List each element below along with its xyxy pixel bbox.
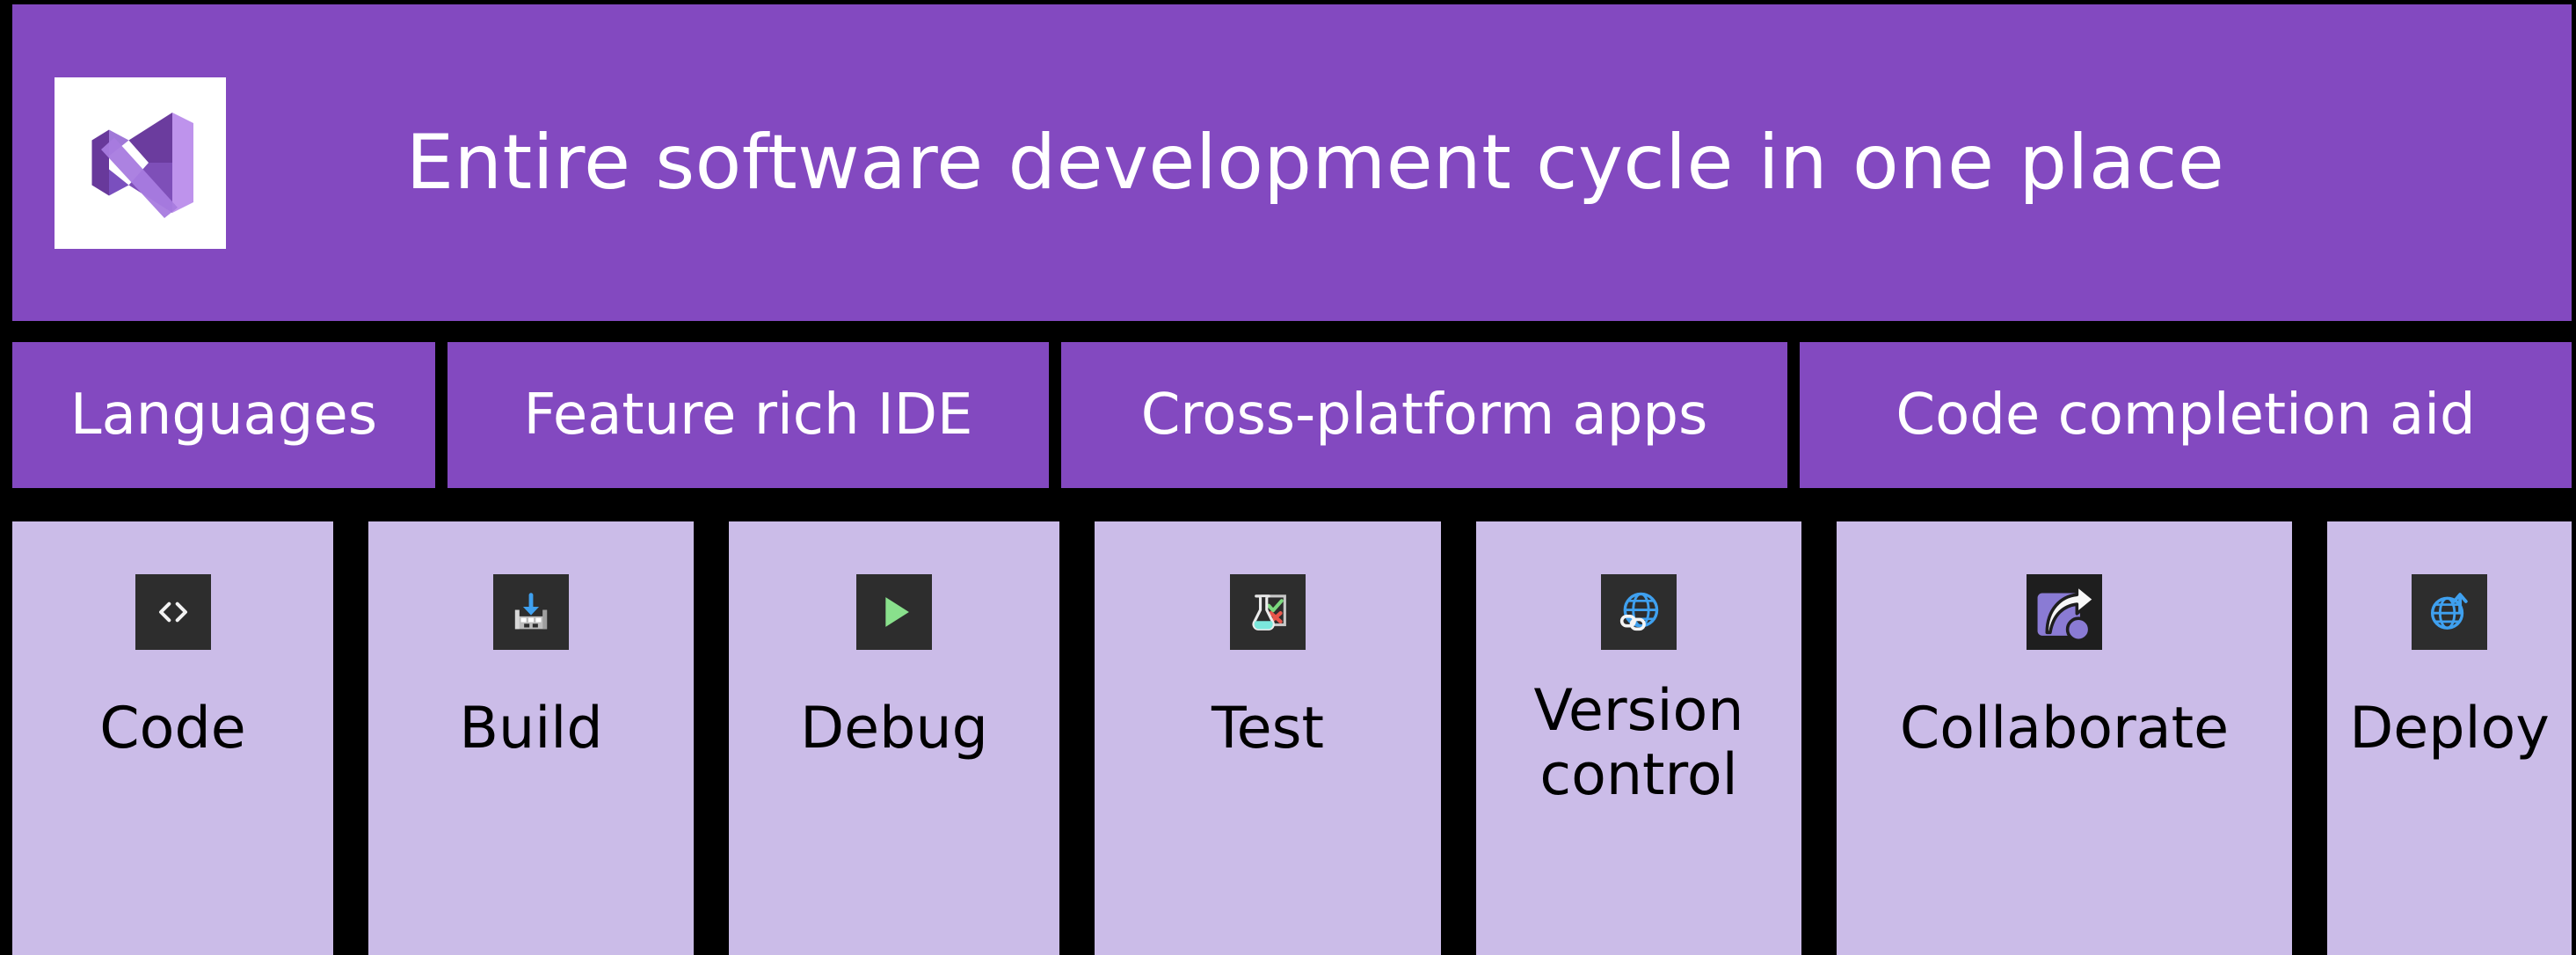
code-brackets-icon (135, 574, 211, 650)
tab-languages[interactable]: Languages (12, 342, 435, 488)
stage-card-test[interactable]: Test (1095, 521, 1441, 955)
page-title: Entire software development cycle in one… (226, 123, 2572, 202)
play-triangle-icon (856, 574, 932, 650)
globe-up-arrow-icon (2412, 574, 2487, 650)
stage-card-collaborate[interactable]: Collaborate (1837, 521, 2292, 955)
stage-card-version-control[interactable]: Version control (1476, 521, 1801, 955)
tab-feature-rich-ide[interactable]: Feature rich IDE (448, 342, 1049, 488)
tab-code-completion-aid[interactable]: Code completion aid (1800, 342, 2572, 488)
tab-label: Cross-platform apps (1141, 383, 1708, 448)
globe-link-icon (1601, 574, 1677, 650)
stage-card-debug[interactable]: Debug (729, 521, 1059, 955)
stage-label: Build (454, 697, 608, 762)
visual-studio-logo-tile (55, 77, 226, 249)
feature-tab-row: Languages Feature rich IDE Cross-platfor… (12, 342, 2572, 488)
tab-label: Feature rich IDE (524, 383, 973, 448)
test-flask-checklist-icon (1230, 574, 1306, 650)
tab-label: Code completion aid (1896, 383, 2475, 448)
share-arrow-icon (2027, 574, 2102, 650)
header-banner: Entire software development cycle in one… (12, 4, 2572, 321)
tab-label: Languages (70, 383, 377, 448)
stage-label: Debug (795, 697, 993, 762)
stage-label: Code (94, 697, 251, 762)
visual-studio-logo-icon (75, 97, 207, 229)
stage-label: Collaborate (1895, 697, 2234, 762)
stage-label: Test (1206, 697, 1329, 762)
build-box-download-icon (493, 574, 569, 650)
stage-card-code[interactable]: Code (12, 521, 333, 955)
stage-card-build[interactable]: Build (368, 521, 694, 955)
stage-label: Deploy (2344, 697, 2555, 762)
lifecycle-stage-row: Code Build Debug (12, 521, 2572, 955)
tab-cross-platform-apps[interactable]: Cross-platform apps (1061, 342, 1787, 488)
stage-card-deploy[interactable]: Deploy (2327, 521, 2572, 955)
stage-label: Version control (1528, 680, 1749, 808)
